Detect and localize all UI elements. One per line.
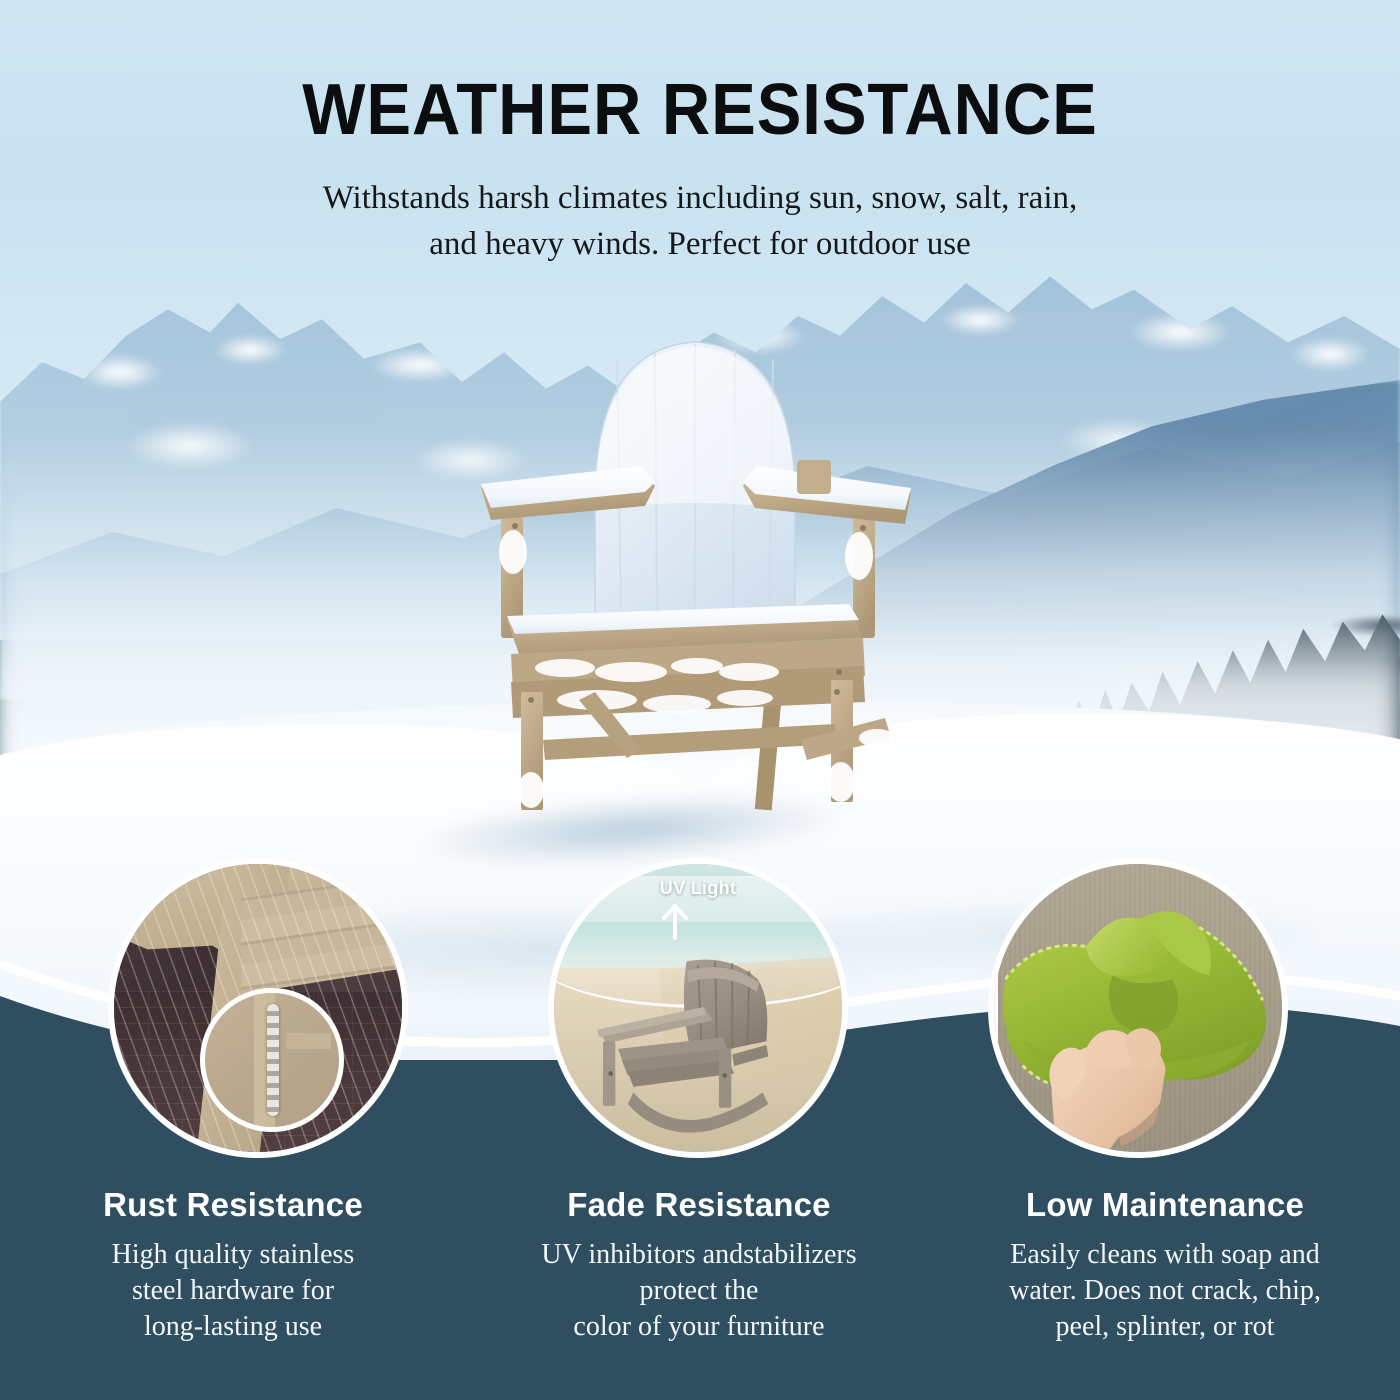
inset-bar-right bbox=[286, 1033, 332, 1049]
desc-line-1: Easily cleans with soap and bbox=[958, 1237, 1372, 1273]
desc-line-2: protect the bbox=[492, 1273, 906, 1309]
feature-fade-resistance: Fade Resistance UV inhibitors andstabili… bbox=[466, 1186, 932, 1344]
feature-desc-rust-resistance: High quality stainless steel hardware fo… bbox=[26, 1237, 440, 1344]
stainless-chain-icon bbox=[267, 1004, 279, 1117]
feature-desc-fade-resistance: UV inhibitors andstabilizers protect the… bbox=[492, 1237, 906, 1344]
subtitle-line-2: and heavy winds. Perfect for outdoor use bbox=[0, 222, 1400, 268]
feature-title-fade-resistance: Fade Resistance bbox=[492, 1186, 906, 1224]
hero-adirondack-chair bbox=[445, 320, 945, 820]
feature-image-rust-resistance bbox=[108, 858, 408, 1158]
feature-text-row: Rust Resistance High quality stainless s… bbox=[0, 1186, 1400, 1344]
feature-image-low-maintenance bbox=[988, 858, 1288, 1158]
header-block: WEATHER RESISTANCE Withstands harsh clim… bbox=[0, 0, 1400, 267]
desc-line-3: color of your furniture bbox=[492, 1309, 906, 1345]
feature-title-low-maintenance: Low Maintenance bbox=[958, 1186, 1372, 1224]
desc-line-1: UV inhibitors andstabilizers bbox=[492, 1237, 906, 1273]
inset-bar-left bbox=[213, 1041, 251, 1054]
hand-icon bbox=[1029, 945, 1179, 1158]
desc-line-2: steel hardware for bbox=[26, 1273, 440, 1309]
desc-line-1: High quality stainless bbox=[26, 1237, 440, 1273]
page-title: WEATHER RESISTANCE bbox=[49, 74, 1351, 146]
feature-low-maintenance: Low Maintenance Easily cleans with soap … bbox=[932, 1186, 1398, 1344]
desc-line-3: peel, splinter, or rot bbox=[958, 1309, 1372, 1345]
feature-rust-resistance: Rust Resistance High quality stainless s… bbox=[0, 1186, 466, 1344]
feature-title-rust-resistance: Rust Resistance bbox=[26, 1186, 440, 1224]
uv-arrow-icon bbox=[658, 904, 692, 940]
gray-adirondack-chair bbox=[577, 950, 830, 1140]
desc-line-2: water. Does not crack, chip, bbox=[958, 1273, 1372, 1309]
page-subtitle: Withstands harsh climates including sun,… bbox=[0, 176, 1400, 267]
desc-line-3: long-lasting use bbox=[26, 1309, 440, 1345]
subtitle-line-1: Withstands harsh climates including sun,… bbox=[0, 176, 1400, 222]
hardware-detail-inset bbox=[200, 988, 344, 1132]
feature-image-fade-resistance: UV Light bbox=[548, 858, 848, 1158]
uv-light-label: UV Light bbox=[554, 878, 842, 899]
infographic-canvas: WEATHER RESISTANCE Withstands harsh clim… bbox=[0, 0, 1400, 1400]
feature-desc-low-maintenance: Easily cleans with soap and water. Does … bbox=[958, 1237, 1372, 1344]
